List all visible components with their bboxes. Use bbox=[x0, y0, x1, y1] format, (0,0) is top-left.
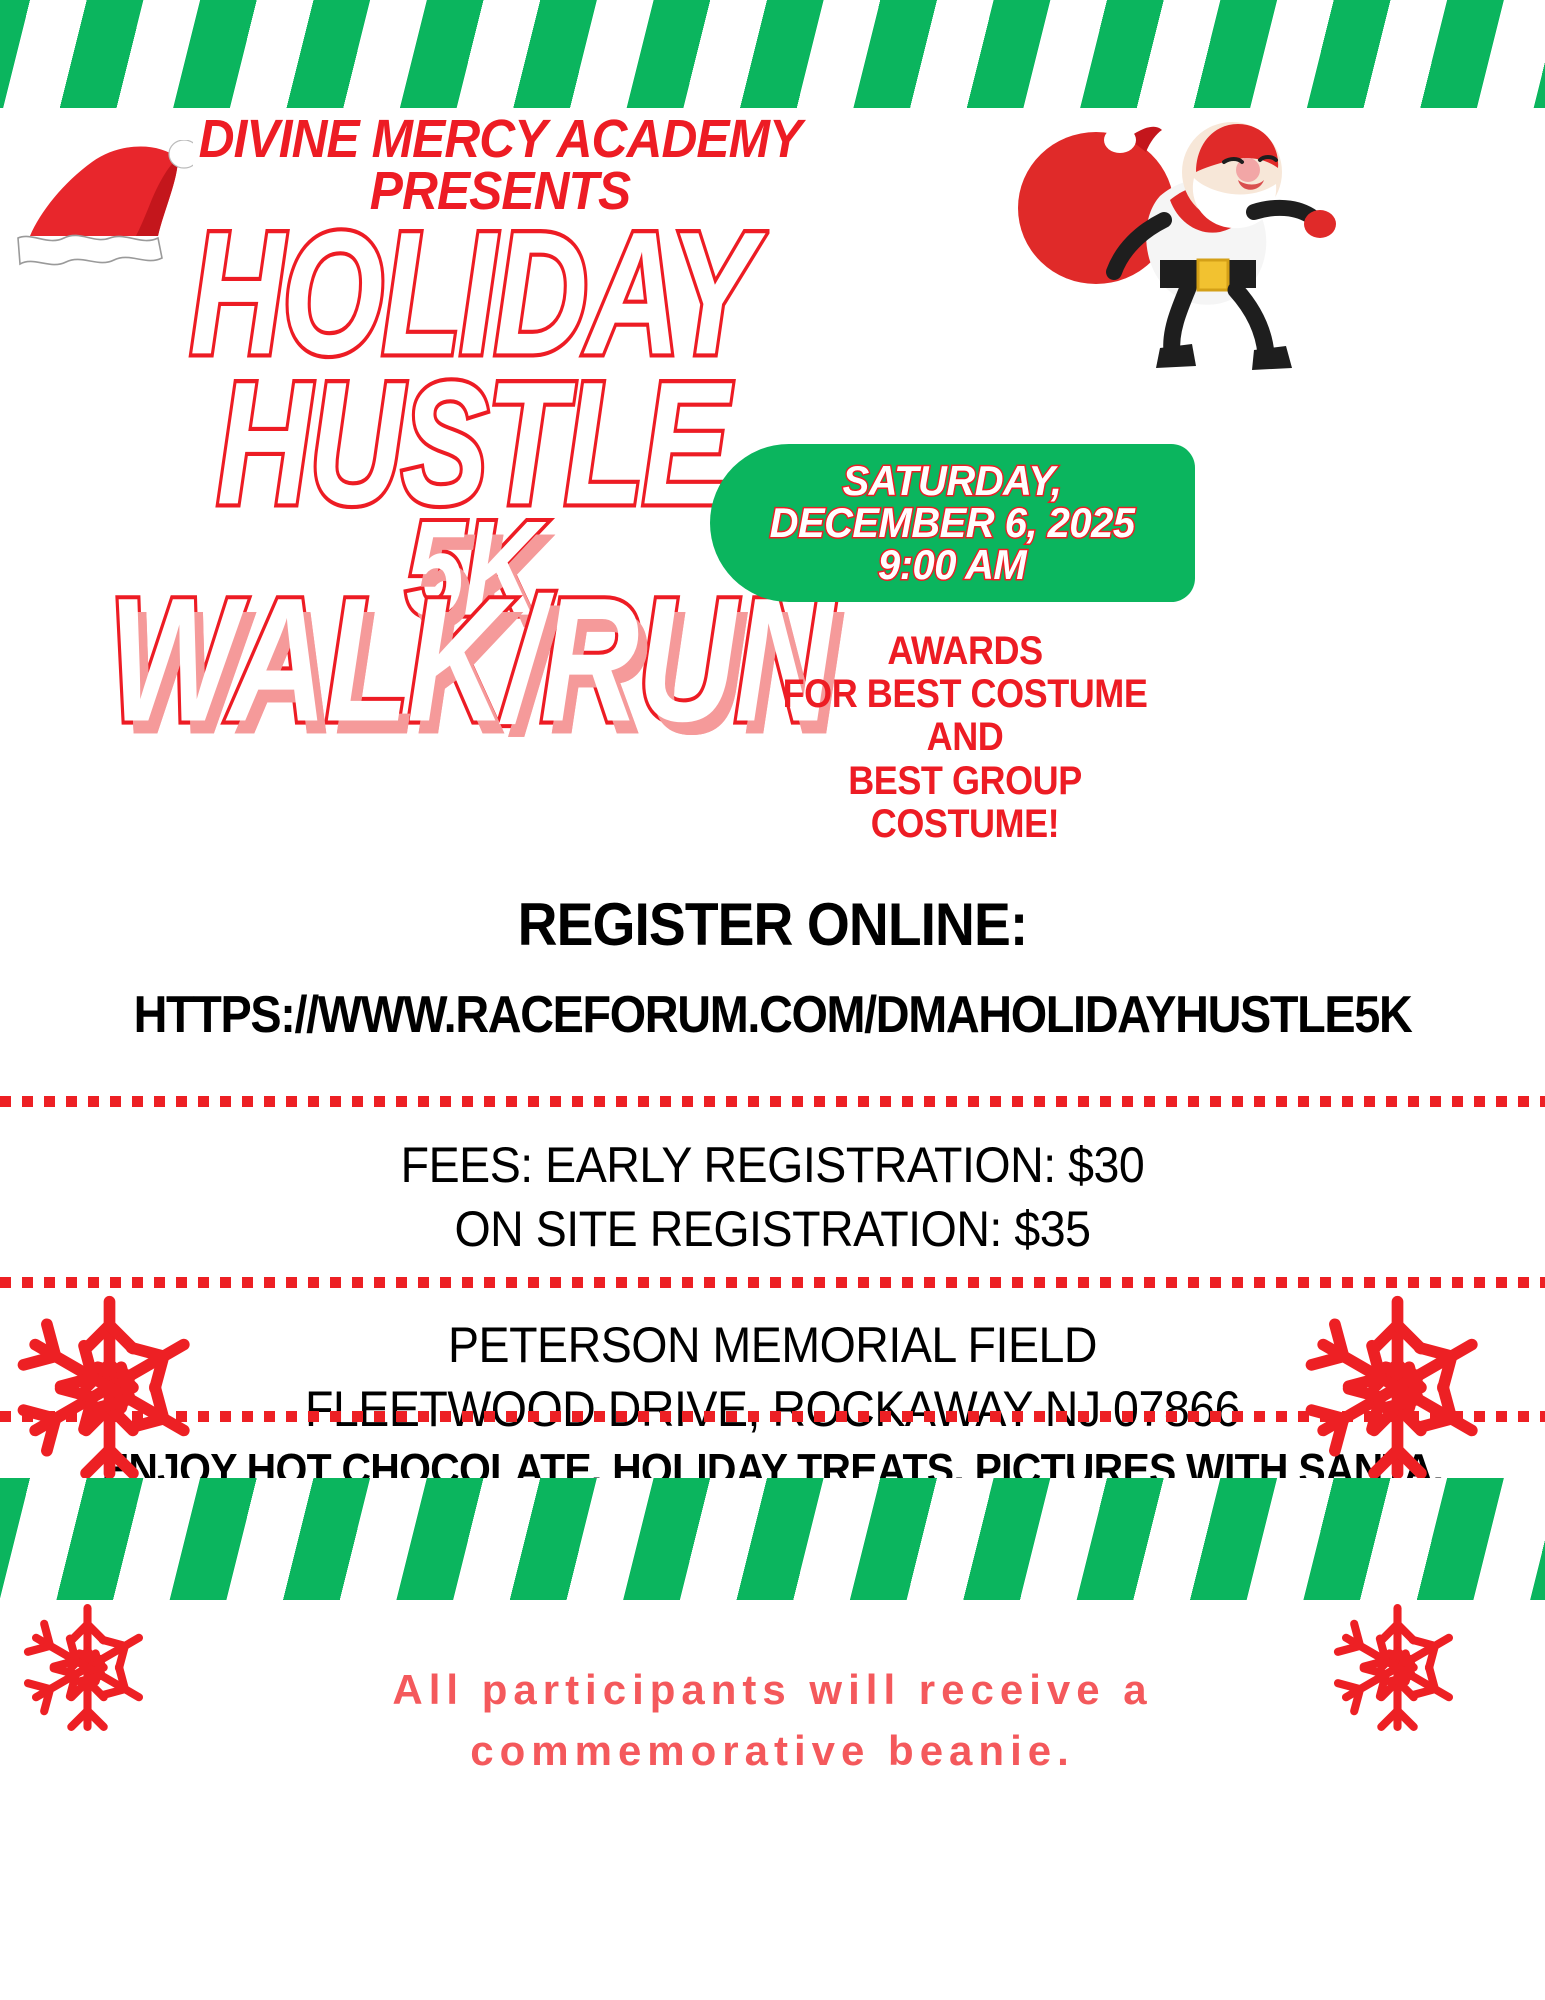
headline-block: DIVINE MERCY ACADEMY PRESENTS HOLIDAY HU… bbox=[0, 108, 1545, 838]
diagonal-stripes bbox=[0, 0, 1545, 108]
divider-line bbox=[0, 1277, 1545, 1288]
snowflake-icon bbox=[12, 1290, 207, 1490]
awards-text: AWARDS FOR BEST COSTUME AND BEST GROUP C… bbox=[754, 630, 1177, 846]
bottom-stripe-banner bbox=[0, 1478, 1545, 1600]
snowflake-icon bbox=[20, 1600, 155, 1740]
registration-url[interactable]: HTTPS://WWW.RACEFORUM.COM/DMAHOLIDAYHUST… bbox=[77, 985, 1468, 1045]
divider-line bbox=[0, 1096, 1545, 1107]
diagonal-stripes bbox=[0, 1478, 1545, 1600]
snowflake-icon bbox=[1300, 1290, 1495, 1490]
date-badge-text: SATURDAY, DECEMBER 6, 2025 9:00 AM bbox=[770, 460, 1135, 586]
register-online-label: REGISTER ONLINE: bbox=[62, 890, 1483, 959]
title-walk-run: WALK/RUN bbox=[83, 586, 857, 736]
fees-text: FEES: EARLY REGISTRATION: $30 ON SITE RE… bbox=[54, 1133, 1491, 1261]
beanie-note: All participants will receive a commemor… bbox=[190, 1660, 1355, 1782]
date-badge: SATURDAY, DECEMBER 6, 2025 9:00 AM bbox=[710, 444, 1195, 602]
top-stripe-banner bbox=[0, 0, 1545, 108]
